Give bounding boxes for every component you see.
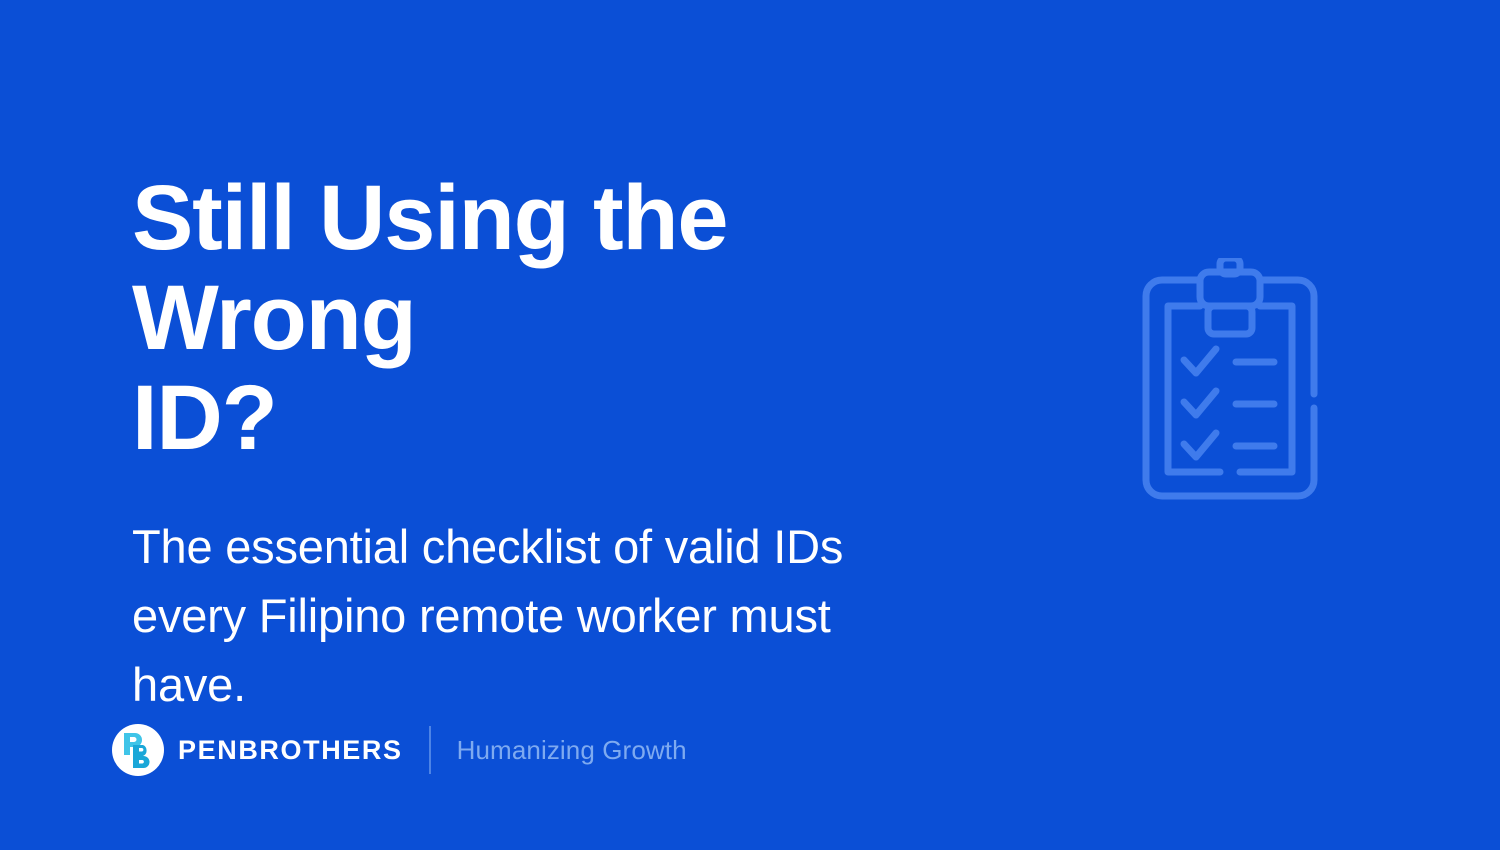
text-content: Still Using the Wrong ID? The essential …: [132, 168, 1032, 719]
page-title: Still Using the Wrong ID?: [132, 168, 1032, 468]
footer-brand-lockup: PENBROTHERS Humanizing Growth: [112, 718, 687, 782]
penbrothers-logo[interactable]: PENBROTHERS: [112, 724, 403, 776]
brand-tagline: Humanizing Growth: [457, 735, 687, 766]
pb-monogram-icon: [121, 731, 155, 769]
penbrothers-monogram-badge: [112, 724, 164, 776]
penbrothers-wordmark: PENBROTHERS: [178, 735, 403, 766]
footer-divider: [429, 726, 431, 774]
clipboard-checklist-icon: [1138, 258, 1322, 516]
social-card: Still Using the Wrong ID? The essential …: [0, 0, 1500, 850]
page-subtitle: The essential checklist of valid IDs eve…: [132, 512, 1032, 719]
